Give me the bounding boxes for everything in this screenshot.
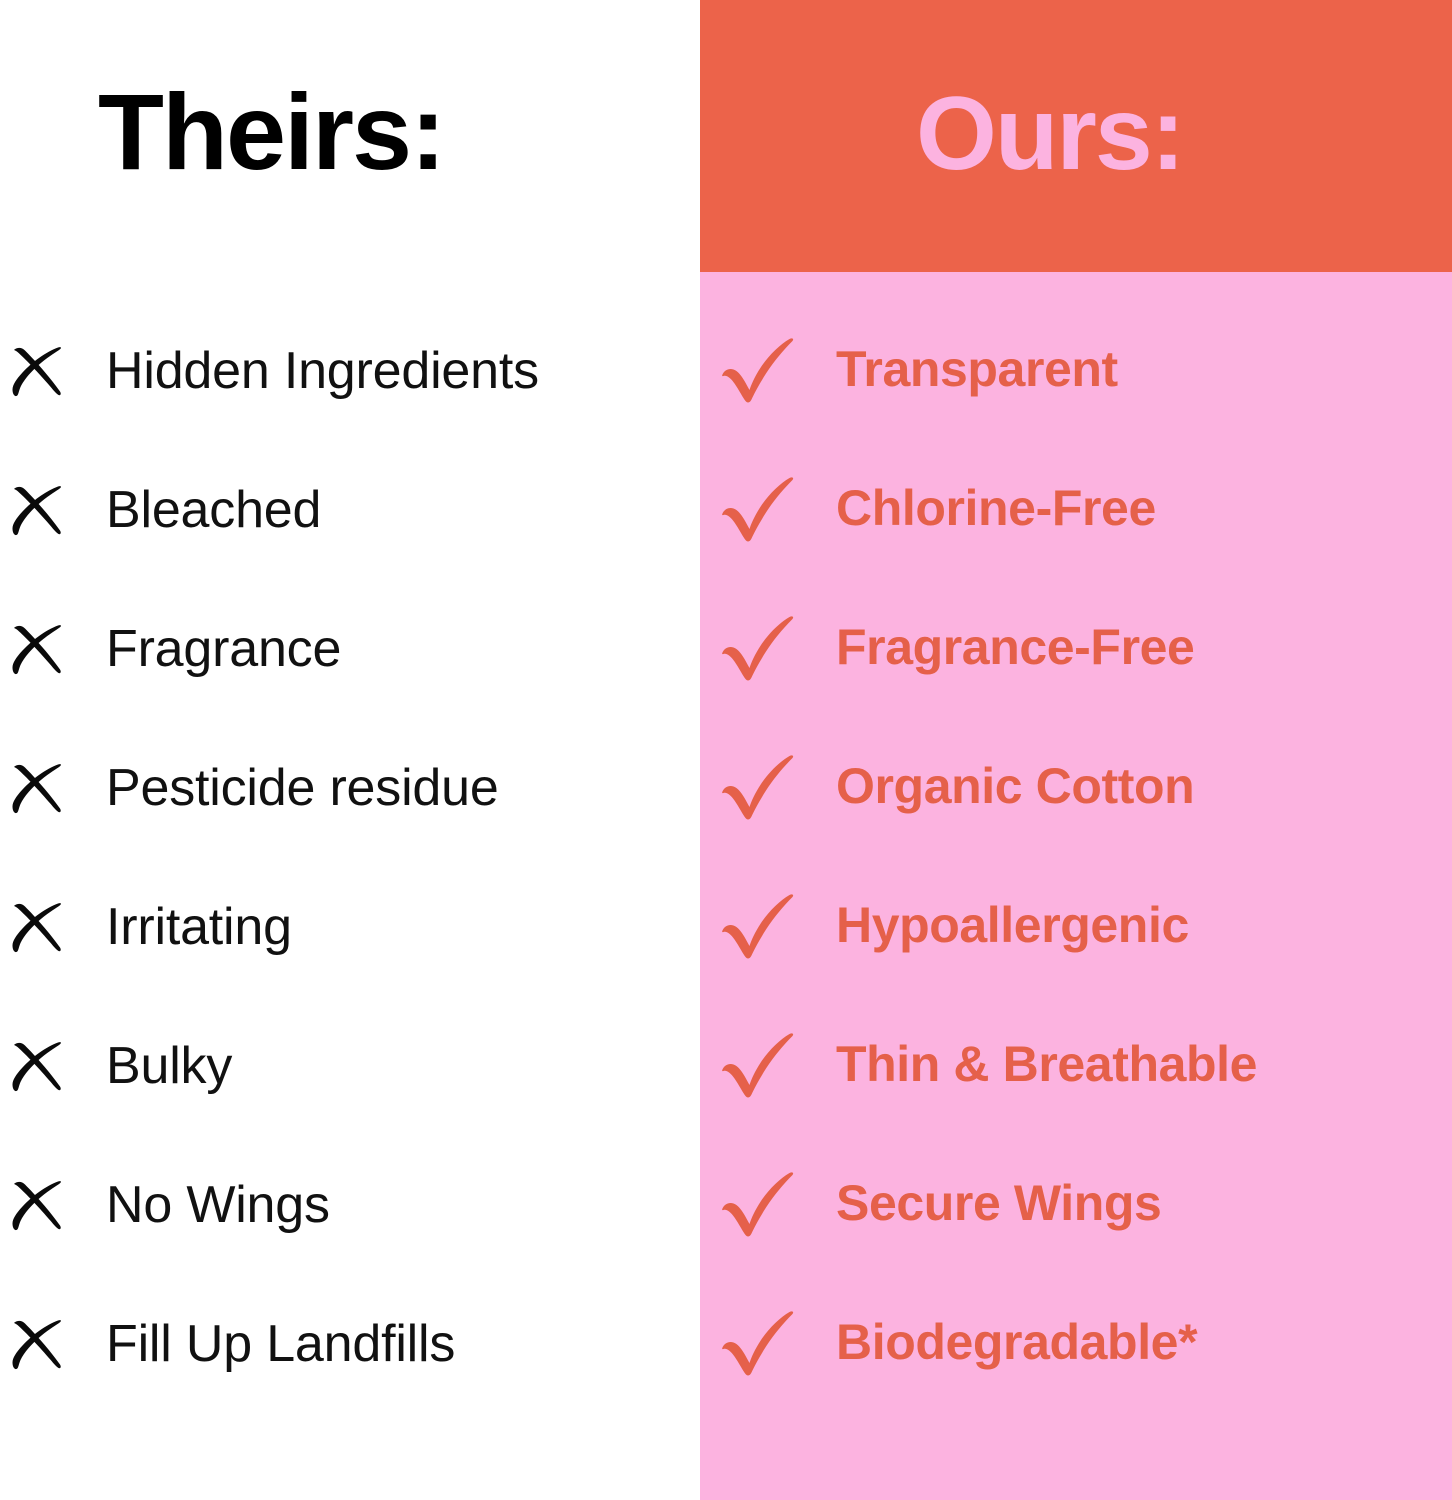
ours-title: Ours: [916, 82, 1183, 186]
list-item-label: Secure Wings [836, 1177, 1161, 1230]
x-mark-icon [6, 480, 72, 542]
list-item: Fragrance-Free [700, 578, 1452, 717]
ours-list: Transparent Chlorine-Free Fragrance-Free [700, 300, 1452, 1412]
list-item: Secure Wings [700, 1134, 1452, 1273]
check-mark-icon [716, 474, 802, 544]
list-item-label: Organic Cotton [836, 760, 1194, 813]
list-item-label: Biodegradable* [836, 1316, 1197, 1369]
x-mark-icon [6, 619, 72, 681]
ours-column: Ours: Transparent Chlorine-Free [700, 0, 1452, 1500]
list-item-label: Hidden Ingredients [106, 344, 539, 399]
x-mark-icon [6, 758, 72, 820]
x-mark-icon [6, 897, 72, 959]
list-item-label: Fragrance [106, 622, 341, 677]
list-item: Bleached [0, 441, 700, 580]
list-item-label: Pesticide residue [106, 761, 499, 816]
list-item: Pesticide residue [0, 719, 700, 858]
theirs-list: Hidden Ingredients Bleached [0, 302, 700, 1414]
list-item-label: Hypoallergenic [836, 899, 1189, 952]
list-item: Transparent [700, 300, 1452, 439]
check-mark-icon [716, 1169, 802, 1239]
list-item-label: Thin & Breathable [836, 1038, 1257, 1091]
list-item-label: Fragrance-Free [836, 621, 1194, 674]
list-item: Fragrance [0, 580, 700, 719]
list-item-label: Transparent [836, 343, 1118, 396]
theirs-title: Theirs: [98, 78, 444, 186]
x-mark-icon [6, 341, 72, 403]
list-item-label: No Wings [106, 1178, 330, 1233]
list-item: Hypoallergenic [700, 856, 1452, 995]
list-item: Bulky [0, 997, 700, 1136]
list-item: Biodegradable* [700, 1273, 1452, 1412]
list-item: Irritating [0, 858, 700, 997]
theirs-column: Theirs: Hidden Ingredients [0, 0, 700, 1500]
list-item: Organic Cotton [700, 717, 1452, 856]
list-item: Thin & Breathable [700, 995, 1452, 1134]
check-mark-icon [716, 1030, 802, 1100]
list-item: No Wings [0, 1136, 700, 1275]
list-item: Hidden Ingredients [0, 302, 700, 441]
x-mark-icon [6, 1175, 72, 1237]
list-item: Chlorine-Free [700, 439, 1452, 578]
list-item-label: Irritating [106, 900, 292, 955]
x-mark-icon [6, 1036, 72, 1098]
check-mark-icon [716, 613, 802, 683]
list-item-label: Bleached [106, 483, 321, 538]
list-item: Fill Up Landfills [0, 1275, 700, 1414]
list-item-label: Fill Up Landfills [106, 1317, 455, 1372]
check-mark-icon [716, 891, 802, 961]
comparison-chart: Theirs: Hidden Ingredients [0, 0, 1452, 1500]
list-item-label: Chlorine-Free [836, 482, 1156, 535]
check-mark-icon [716, 752, 802, 822]
check-mark-icon [716, 1308, 802, 1378]
x-mark-icon [6, 1314, 72, 1376]
check-mark-icon [716, 335, 802, 405]
list-item-label: Bulky [106, 1039, 232, 1094]
